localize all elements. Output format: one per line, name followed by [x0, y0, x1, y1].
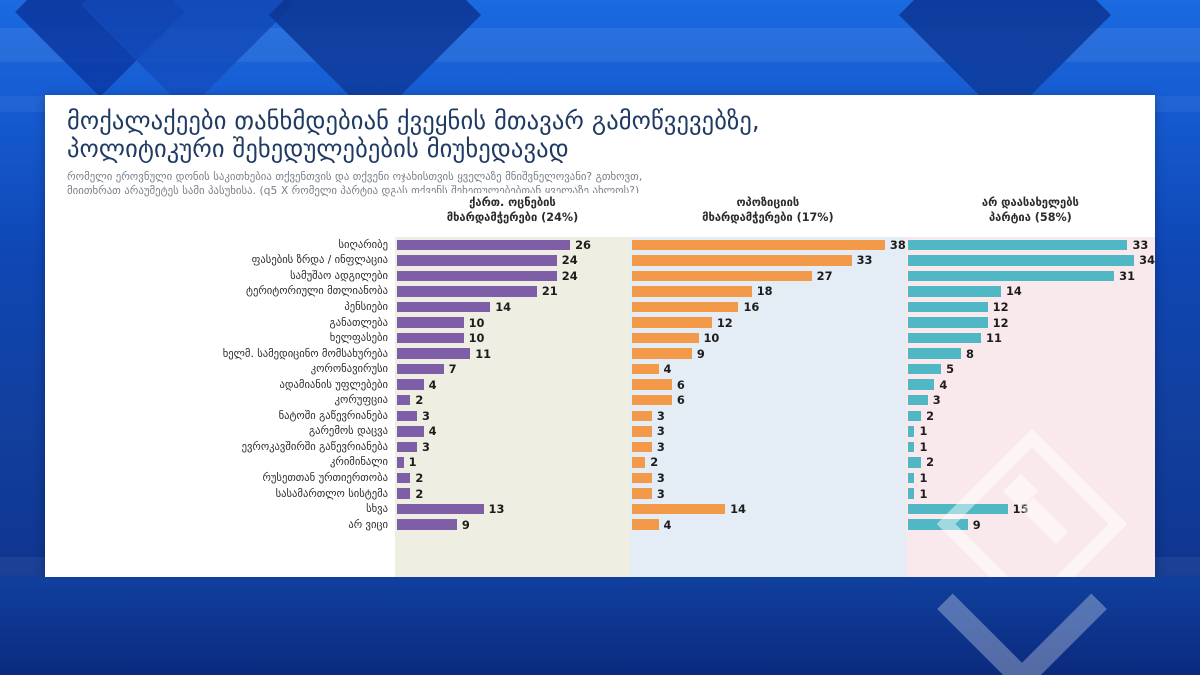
- bar: [397, 473, 410, 484]
- category-label: სხვა: [45, 501, 395, 517]
- bar: [632, 302, 739, 313]
- bar-value-label: 4: [664, 362, 672, 376]
- bar-row: 11: [397, 346, 630, 362]
- category-label: განათლება: [45, 315, 395, 331]
- bar: [908, 426, 915, 437]
- bar: [632, 457, 645, 468]
- bars-0: 2624242114101011742343122139: [395, 237, 630, 532]
- bar: [397, 348, 470, 359]
- bar-row: 31: [908, 268, 1155, 284]
- bar-value-label: 2: [926, 409, 934, 423]
- bar-row: 10: [397, 330, 630, 346]
- bar-row: 1: [908, 470, 1155, 486]
- bar: [632, 271, 812, 282]
- bar-value-label: 10: [469, 331, 485, 345]
- bar: [908, 504, 1008, 515]
- bar-value-label: 11: [986, 331, 1002, 345]
- bar: [397, 255, 557, 266]
- bar-value-label: 12: [717, 316, 733, 330]
- bar: [908, 411, 921, 422]
- bar: [632, 364, 659, 375]
- series-header-label: ოპოზიციის მხარდამჭერები (17%): [702, 195, 833, 225]
- category-label: ნატოში გაწევრიანება: [45, 408, 395, 424]
- bar: [632, 286, 752, 297]
- bar: [397, 333, 464, 344]
- bar-value-label: 33: [857, 253, 873, 267]
- bar: [908, 473, 915, 484]
- bar: [632, 488, 652, 499]
- bar-row: 27: [632, 268, 906, 284]
- bar-value-label: 10: [704, 331, 720, 345]
- category-label: კრიმინალი: [45, 455, 395, 471]
- category-label: ადამიანის უფლებები: [45, 377, 395, 393]
- bar-value-label: 24: [562, 269, 578, 283]
- bar-row: 4: [397, 377, 630, 393]
- bar: [908, 379, 935, 390]
- bar-value-label: 12: [993, 316, 1009, 330]
- bar-value-label: 14: [1006, 284, 1022, 298]
- bar-row: 3: [632, 470, 906, 486]
- bar: [908, 240, 1128, 251]
- bar: [632, 473, 652, 484]
- bar-value-label: 16: [743, 300, 759, 314]
- bar-value-label: 21: [542, 284, 558, 298]
- bar: [908, 302, 988, 313]
- bar-value-label: 2: [415, 471, 423, 485]
- category-label: კორუფცია: [45, 392, 395, 408]
- bar-row: 3: [632, 424, 906, 440]
- bar-row: 1: [908, 424, 1155, 440]
- bar: [908, 348, 961, 359]
- series-panel-2: არ დაასახელებს პარტია (58%) 333431141212…: [906, 193, 1155, 577]
- bar-value-label: 3: [422, 440, 430, 454]
- bar-row: 2: [397, 486, 630, 502]
- bar-value-label: 12: [993, 300, 1009, 314]
- bar-value-label: 2: [650, 455, 658, 469]
- bar-value-label: 3: [657, 409, 665, 423]
- bar: [908, 317, 988, 328]
- bar-row: 21: [397, 284, 630, 300]
- category-label: სასამართლო სისტემა: [45, 486, 395, 502]
- category-label: ევროკავშირში გაწევრიანება: [45, 439, 395, 455]
- bar-row: 13: [397, 501, 630, 517]
- category-label: პენსიები: [45, 299, 395, 315]
- category-label: გარემოს დაცვა: [45, 424, 395, 440]
- bar-value-label: 24: [562, 253, 578, 267]
- bar: [632, 348, 692, 359]
- bar-row: 10: [632, 330, 906, 346]
- series-header-label: არ დაასახელებს პარტია (58%): [982, 195, 1079, 225]
- bar-value-label: 11: [475, 347, 491, 361]
- bar-value-label: 3: [422, 409, 430, 423]
- series-header-1: ოპოზიციის მხარდამჭერები (17%): [630, 193, 906, 237]
- bar-value-label: 1: [409, 455, 417, 469]
- series-panel-0: ქართ. ოცნების მხარდამჭერები (24%) 262424…: [395, 193, 630, 577]
- bar-row: 3: [632, 439, 906, 455]
- bar-value-label: 5: [946, 362, 954, 376]
- bar: [397, 442, 417, 453]
- bar: [908, 255, 1134, 266]
- bar: [397, 426, 424, 437]
- bar: [632, 240, 885, 251]
- bar-row: 34: [908, 253, 1155, 269]
- category-label: არ ვიცი: [45, 517, 395, 533]
- bar: [632, 426, 652, 437]
- bar-value-label: 6: [677, 393, 685, 407]
- category-label: კორონავირუსი: [45, 361, 395, 377]
- bar-row: 4: [397, 424, 630, 440]
- bar-row: 8: [908, 346, 1155, 362]
- series-header-label: ქართ. ოცნების მხარდამჭერები (24%): [447, 195, 578, 225]
- bar-value-label: 27: [817, 269, 833, 283]
- bar-row: 14: [908, 284, 1155, 300]
- bar-row: 12: [908, 299, 1155, 315]
- bar: [908, 488, 915, 499]
- bar: [397, 240, 570, 251]
- category-label: ხელმ. სამედიცინო მომსახურება: [45, 346, 395, 362]
- series-header-0: ქართ. ოცნების მხარდამჭერები (24%): [395, 193, 630, 237]
- bar: [397, 286, 537, 297]
- bar-value-label: 4: [664, 518, 672, 532]
- bar-row: 2: [397, 470, 630, 486]
- bar-row: 26: [397, 237, 630, 253]
- bar-row: 2: [632, 455, 906, 471]
- bar-row: 4: [908, 377, 1155, 393]
- bar-row: 5: [908, 361, 1155, 377]
- bar: [632, 411, 652, 422]
- bars-1: 383327181612109466333233144: [630, 237, 906, 532]
- bar-row: 7: [397, 361, 630, 377]
- bar-value-label: 31: [1119, 269, 1135, 283]
- bar-row: 18: [632, 284, 906, 300]
- bar: [397, 271, 557, 282]
- bar-row: 16: [632, 299, 906, 315]
- bar-value-label: 3: [657, 424, 665, 438]
- bar: [908, 519, 968, 530]
- bar-row: 11: [908, 330, 1155, 346]
- bar-value-label: 34: [1139, 253, 1155, 267]
- bar-row: 1: [397, 455, 630, 471]
- bar: [908, 271, 1114, 282]
- bar: [397, 395, 410, 406]
- bar-row: 1: [908, 486, 1155, 502]
- bar: [397, 317, 464, 328]
- bar-row: 2: [908, 455, 1155, 471]
- bar-value-label: 1: [919, 424, 927, 438]
- bar-row: 12: [908, 315, 1155, 331]
- category-label: რუსეთთან ურთიერთობა: [45, 470, 395, 486]
- bar: [632, 317, 712, 328]
- category-label: ხელფასები: [45, 330, 395, 346]
- bar: [632, 255, 852, 266]
- bar-value-label: 13: [489, 502, 505, 516]
- category-label: ტერიტორიული მთლიანობა: [45, 284, 395, 300]
- bar-value-label: 3: [657, 471, 665, 485]
- bar-value-label: 9: [973, 518, 981, 532]
- page-title: მოქალაქეები თანხმდებიან ქვეყნის მთავარ გ…: [67, 107, 1155, 164]
- category-label: სიღარიბე: [45, 237, 395, 253]
- bar: [397, 488, 410, 499]
- grouped-bar-chart: სიღარიბეფასების ზრდა / ინფლაციასამუშაო ა…: [45, 193, 1155, 577]
- bar-row: 9: [632, 346, 906, 362]
- bar-value-label: 14: [730, 502, 746, 516]
- bar-row: 1: [908, 439, 1155, 455]
- bar-value-label: 6: [677, 378, 685, 392]
- bar-row: 10: [397, 315, 630, 331]
- series-panel-1: ოპოზიციის მხარდამჭერები (17%) 3833271816…: [630, 193, 906, 577]
- bar: [397, 504, 484, 515]
- bar-value-label: 1: [919, 471, 927, 485]
- bar-row: 3: [632, 408, 906, 424]
- bar-row: 33: [908, 237, 1155, 253]
- bar-row: 2: [397, 392, 630, 408]
- bar: [632, 333, 699, 344]
- bar-row: 24: [397, 268, 630, 284]
- bar-row: 14: [632, 501, 906, 517]
- card-header: მოქალაქეები თანხმდებიან ქვეყნის მთავარ გ…: [45, 95, 1155, 199]
- bar-value-label: 26: [575, 238, 591, 252]
- bar-row: 3: [908, 392, 1155, 408]
- bar-value-label: 2: [415, 393, 423, 407]
- bar-value-label: 33: [1132, 238, 1148, 252]
- bar-row: 3: [397, 439, 630, 455]
- bar-value-label: 3: [933, 393, 941, 407]
- category-label: სამუშაო ადგილები: [45, 268, 395, 284]
- bar-row: 3: [632, 486, 906, 502]
- bar-value-label: 7: [449, 362, 457, 376]
- bar-value-label: 18: [757, 284, 773, 298]
- bar-row: 3: [397, 408, 630, 424]
- category-label: ფასების ზრდა / ინფლაცია: [45, 253, 395, 269]
- bar-value-label: 3: [657, 487, 665, 501]
- bar-value-label: 1: [919, 487, 927, 501]
- bar-row: 9: [908, 517, 1155, 533]
- screenshot-stage: მოქალაქეები თანხმდებიან ქვეყნის მთავარ გ…: [0, 0, 1200, 675]
- bar: [908, 364, 941, 375]
- bar: [632, 395, 672, 406]
- bar-value-label: 38: [890, 238, 906, 252]
- bar-row: 4: [632, 361, 906, 377]
- bar-value-label: 4: [429, 378, 437, 392]
- bar-row: 4: [632, 517, 906, 533]
- bar-value-label: 1: [919, 440, 927, 454]
- bar-value-label: 2: [926, 455, 934, 469]
- category-labels-column: სიღარიბეფასების ზრდა / ინფლაციასამუშაო ა…: [45, 193, 395, 577]
- bar-row: 14: [397, 299, 630, 315]
- bar: [908, 442, 915, 453]
- bar-row: 12: [632, 315, 906, 331]
- bar-value-label: 15: [1013, 502, 1029, 516]
- bar-row: 6: [632, 392, 906, 408]
- bar: [632, 504, 725, 515]
- bar-row: 24: [397, 253, 630, 269]
- bar-value-label: 3: [657, 440, 665, 454]
- bar-value-label: 4: [939, 378, 947, 392]
- bar: [908, 333, 981, 344]
- bars-2: 333431141212118543211211159: [906, 237, 1155, 532]
- bar-row: 15: [908, 501, 1155, 517]
- series-header-2: არ დაასახელებს პარტია (58%): [906, 193, 1155, 237]
- bar-value-label: 10: [469, 316, 485, 330]
- bar-row: 38: [632, 237, 906, 253]
- bar-value-label: 8: [966, 347, 974, 361]
- bar-value-label: 14: [495, 300, 511, 314]
- chart-card: მოქალაქეები თანხმდებიან ქვეყნის მთავარ გ…: [45, 95, 1155, 577]
- bar-value-label: 2: [415, 487, 423, 501]
- bar: [908, 457, 921, 468]
- bar: [397, 364, 444, 375]
- bar: [397, 457, 404, 468]
- bar-row: 2: [908, 408, 1155, 424]
- bar-row: 6: [632, 377, 906, 393]
- bar-value-label: 9: [462, 518, 470, 532]
- bar: [397, 411, 417, 422]
- bar: [397, 379, 424, 390]
- bar: [397, 302, 490, 313]
- bar-row: 33: [632, 253, 906, 269]
- bar-value-label: 9: [697, 347, 705, 361]
- bar-value-label: 4: [429, 424, 437, 438]
- bar: [632, 379, 672, 390]
- bar: [632, 519, 659, 530]
- bar: [908, 395, 928, 406]
- bar-row: 9: [397, 517, 630, 533]
- bar: [632, 442, 652, 453]
- bar: [397, 519, 457, 530]
- bar: [908, 286, 1001, 297]
